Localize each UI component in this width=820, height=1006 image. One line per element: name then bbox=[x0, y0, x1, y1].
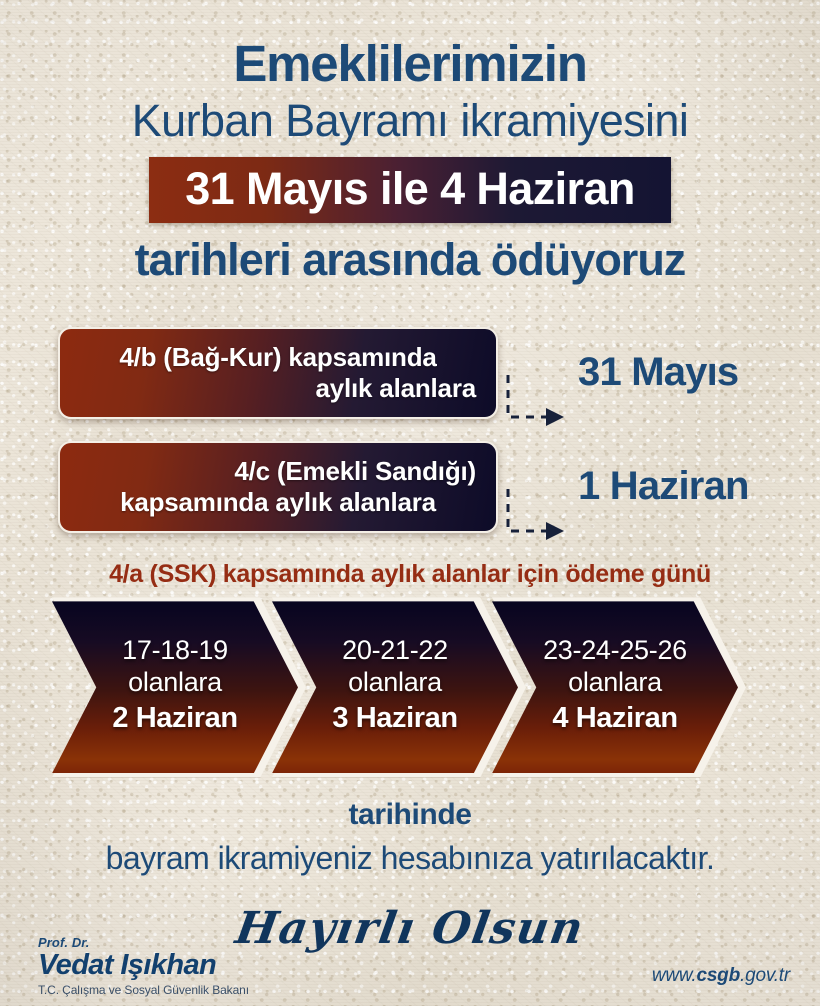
url-prefix: www. bbox=[652, 965, 697, 986]
chevron-date: 3 Haziran bbox=[332, 699, 457, 738]
closing-line-2: bayram ikramiyeniz hesabınıza yatırılaca… bbox=[0, 840, 820, 877]
poster-footer: Prof. Dr. Vedat Işıkhan T.C. Çalışma ve … bbox=[0, 936, 820, 996]
minister-prefix: Prof. Dr. bbox=[38, 936, 249, 949]
category-box-line-2: aylık alanlara bbox=[80, 373, 476, 404]
minister-name: Vedat Işıkhan bbox=[38, 951, 249, 980]
category-box-4c: 4/c (Emekli Sandığı) kapsamında aylık al… bbox=[58, 441, 498, 533]
headline-line-1: Emeklilerimizin bbox=[0, 0, 820, 89]
headline-line-2: Kurban Bayramı ikramiyesini bbox=[0, 96, 820, 146]
chevron-body: 17-18-19 olanlara 2 Haziran bbox=[52, 601, 298, 773]
payment-rows: 4/b (Bağ-Kur) kapsamında aylık alanlara … bbox=[0, 325, 820, 534]
payment-row: 4/b (Bağ-Kur) kapsamında aylık alanlara … bbox=[0, 325, 820, 420]
ssk-subtitle: 4/a (SSK) kapsamında aylık alanlar için … bbox=[0, 560, 820, 589]
category-box-text: 4/c (Emekli Sandığı) kapsamında aylık al… bbox=[60, 456, 496, 518]
ssk-chevron-row: 17-18-19 olanlara 2 Haziran 20-21-22 ola… bbox=[0, 601, 820, 773]
minister-signature-block: Prof. Dr. Vedat Işıkhan T.C. Çalışma ve … bbox=[38, 936, 249, 996]
category-box-line-1: 4/c (Emekli Sandığı) bbox=[80, 456, 476, 487]
dashed-connector-arrow-icon bbox=[504, 373, 574, 435]
chevron-days: 17-18-19 bbox=[122, 636, 228, 665]
payment-date-4b: 31 Mayıs bbox=[578, 350, 738, 395]
poster-root: Emeklilerimizin Kurban Bayramı ikramiyes… bbox=[0, 0, 820, 1006]
chevron-date: 2 Haziran bbox=[112, 699, 237, 738]
chevron-for-label: olanlara bbox=[568, 666, 662, 700]
poster-content: Emeklilerimizin Kurban Bayramı ikramiyes… bbox=[0, 0, 820, 954]
payment-date-4c: 1 Haziran bbox=[578, 464, 749, 509]
date-banner-wrapper: 31 Mayıs ile 4 Haziran bbox=[0, 157, 820, 223]
chevron-body: 20-21-22 olanlara 3 Haziran bbox=[272, 601, 518, 773]
headline-line-3: tarihleri arasında ödüyoruz bbox=[0, 237, 820, 282]
dashed-connector-arrow-icon bbox=[504, 487, 574, 549]
minister-title: T.C. Çalışma ve Sosyal Güvenlik Bakanı bbox=[38, 984, 249, 996]
category-box-line-2: kapsamında aylık alanlara bbox=[80, 487, 476, 518]
chevron-for-label: olanlara bbox=[128, 666, 222, 700]
closing-line-1: tarihinde bbox=[0, 798, 820, 832]
chevron-days: 23-24-25-26 bbox=[543, 636, 687, 665]
category-box-4b: 4/b (Bağ-Kur) kapsamında aylık alanlara bbox=[58, 327, 498, 419]
payment-row: 4/c (Emekli Sandığı) kapsamında aylık al… bbox=[0, 439, 820, 534]
url-suffix: .gov.tr bbox=[740, 965, 790, 986]
category-box-line-1: 4/b (Bağ-Kur) kapsamında bbox=[80, 342, 476, 373]
date-range-banner: 31 Mayıs ile 4 Haziran bbox=[149, 157, 671, 223]
chevron-body: 23-24-25-26 olanlara 4 Haziran bbox=[492, 601, 738, 773]
chevron-days: 20-21-22 bbox=[342, 636, 448, 665]
category-box-text: 4/b (Bağ-Kur) kapsamında aylık alanlara bbox=[60, 342, 496, 404]
website-url[interactable]: www.csgb.gov.tr bbox=[652, 965, 790, 996]
chevron-for-label: olanlara bbox=[348, 666, 442, 700]
chevron-date: 4 Haziran bbox=[552, 699, 677, 738]
url-brand: csgb bbox=[696, 965, 740, 986]
